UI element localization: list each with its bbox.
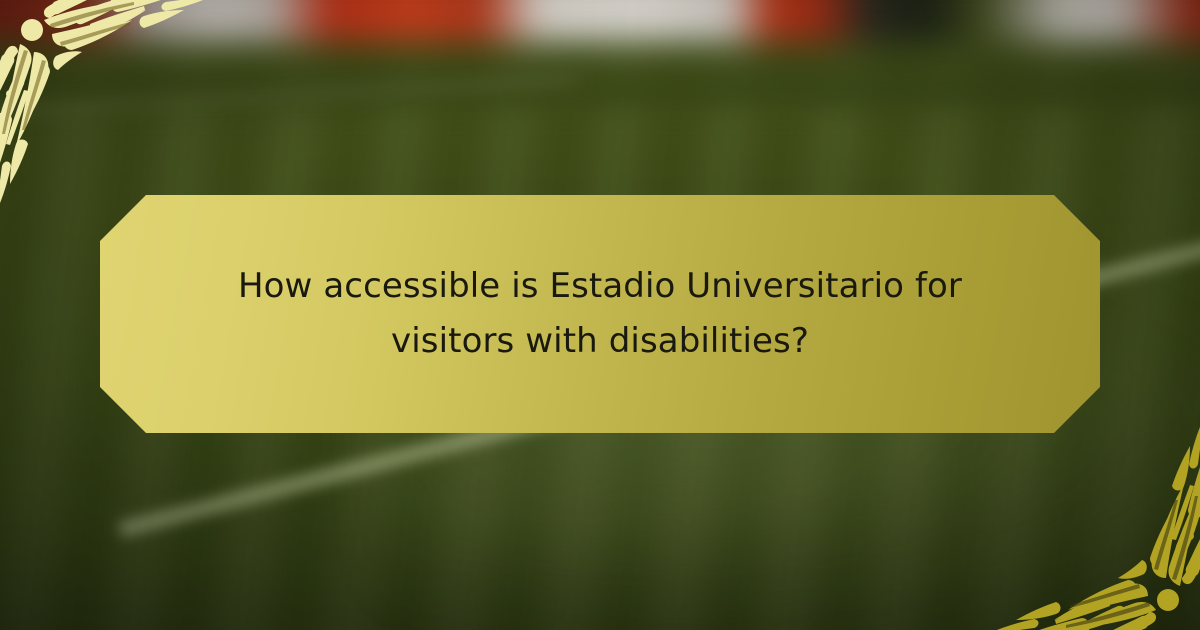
question-card: How accessible is Estadio Universitario …	[100, 195, 1100, 433]
poster-canvas: How accessible is Estadio Universitario …	[0, 0, 1200, 630]
question-title: How accessible is Estadio Universitario …	[230, 259, 970, 369]
